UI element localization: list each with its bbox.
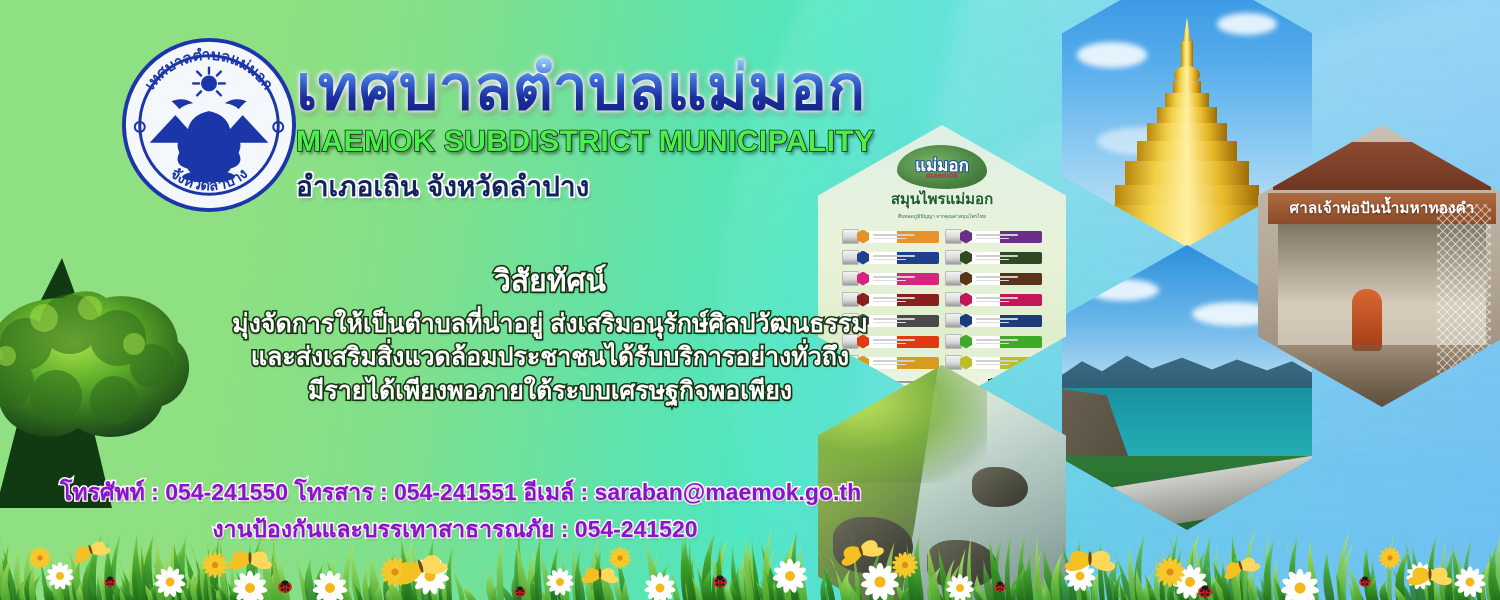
vision-heading: วิสัยทัศน์	[150, 258, 950, 305]
yellow-flower-icon	[1379, 547, 1402, 570]
herb-item	[945, 312, 1042, 329]
daisy-flower-icon	[312, 571, 347, 600]
herb-item	[945, 249, 1042, 266]
yellow-flower-icon	[29, 547, 52, 570]
grass-decoration	[0, 514, 1500, 600]
jar-icon	[842, 229, 859, 244]
grass-icon	[0, 514, 1500, 600]
organization-heading: เทศบาลตำบลแม่มอก MAEMOK SUBDISTRICT MUNI…	[296, 56, 976, 209]
daisy-flower-icon	[644, 572, 676, 600]
page-subtitle-location: อำเภอเถิน จังหวัดลำปาง	[296, 165, 976, 209]
yellow-flower-icon	[609, 547, 632, 570]
municipal-seal-logo[interactable]: เทศบาลตำบลแม่มอก จังหวัดลำปาง	[120, 36, 298, 214]
jar-icon	[945, 229, 962, 244]
herb-item	[945, 228, 1042, 245]
monk-statue	[1352, 289, 1382, 351]
herb-item	[945, 333, 1042, 350]
vision-line: มุ่งจัดการให้เป็นตำบลที่น่าอยู่ ส่งเสริม…	[150, 308, 950, 341]
herb-item	[945, 354, 1042, 371]
mesh-gate	[1437, 204, 1492, 396]
butterfly-icon	[1065, 551, 1116, 571]
site-banner: วัดพ บ้านกุ่ อำเภ	[0, 0, 1500, 600]
vision-line: และส่งเสริมสิ่งแวดล้อมประชาชนได้รับบริกา…	[150, 341, 950, 374]
butterfly-icon	[838, 537, 885, 567]
vision-statement: วิสัยทัศน์ มุ่งจัดการให้เป็นตำบลที่น่าอย…	[150, 258, 950, 408]
herb-item	[945, 291, 1042, 308]
chedi-illustration	[1107, 17, 1267, 247]
herb-item	[842, 228, 939, 245]
contact-line-primary[interactable]: โทรศัพท์ : 054-241550 โทรสาร : 054-24155…	[60, 474, 850, 511]
page-title-thai: เทศบาลตำบลแม่มอก	[296, 56, 976, 123]
hex-caption-pagoda: วัดพ บ้านกุ่ อำเภ	[1280, 0, 1304, 11]
herb-item	[945, 270, 1042, 287]
municipal-seal-icon: เทศบาลตำบลแม่มอก จังหวัดลำปาง	[120, 36, 298, 214]
poster-subtitle: สืบทอดภูมิปัญญา จากคุณค่าสมุนไพรไทย	[898, 213, 986, 221]
page-title-english: MAEMOK SUBDISTRICT MUNICIPALITY	[296, 125, 976, 159]
vision-line: มีรายได้เพียงพอภายใต้ระบบเศรษฐกิจพอเพียง	[150, 375, 950, 408]
